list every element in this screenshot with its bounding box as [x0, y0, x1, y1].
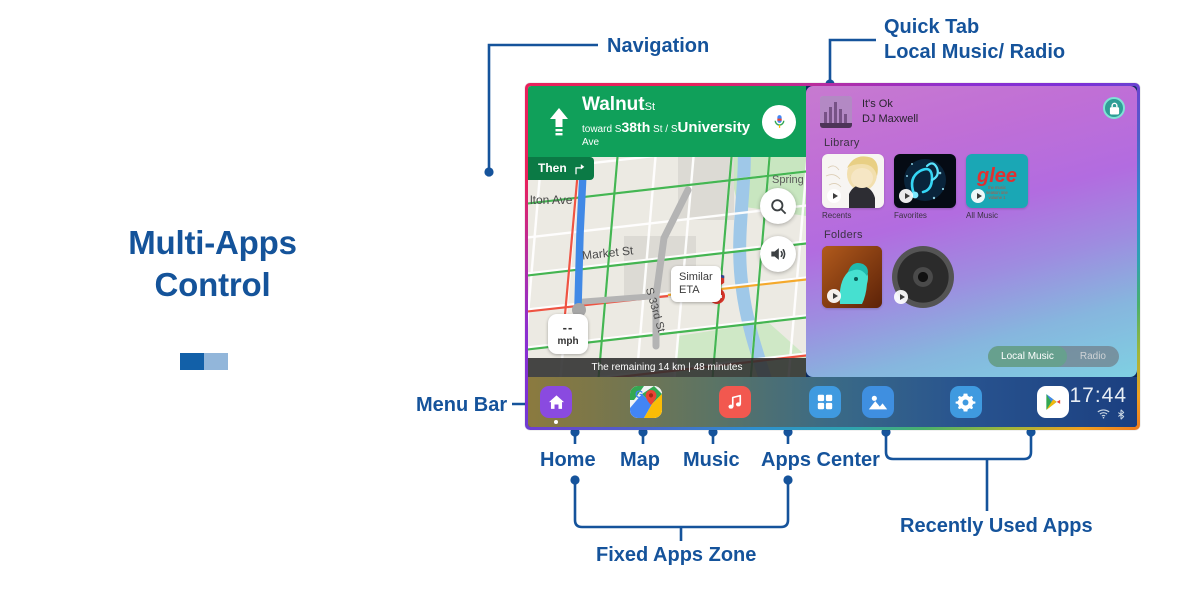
dock-app-music[interactable] [719, 386, 751, 418]
navigation-street: WalnutSt [582, 95, 762, 116]
status-tray [1069, 409, 1127, 420]
library-label: Library [824, 137, 1125, 149]
photo-gallery-icon [867, 391, 889, 413]
google-maps-icon: G [630, 386, 662, 418]
library-tiles: Recents [820, 154, 1125, 220]
map-label-ton-ave: lton Ave [530, 193, 572, 207]
car-head-unit-screen: Spring lton Ave Market St S 33rd St 76 [525, 83, 1140, 430]
annotation-map: Map [620, 448, 660, 473]
microphone-icon [771, 113, 788, 130]
library-tile-label: All Music [966, 211, 1028, 220]
now-playing-artwork [820, 96, 852, 128]
map-label-spring: Spring [772, 174, 804, 186]
folder-tile-vinyl[interactable] [892, 246, 954, 308]
now-playing-title: It's Ok [862, 97, 918, 112]
folder-tiles [820, 246, 1125, 308]
play-button-folder-portrait[interactable] [827, 289, 841, 303]
then-maneuver-chip: Then [528, 157, 594, 180]
search-icon [769, 197, 788, 216]
album-art-all-music: glee the music season one volume 1 [966, 154, 1028, 208]
album-art-recents [822, 154, 884, 208]
clock: 17:44 [1069, 385, 1127, 406]
map-search-button[interactable] [760, 188, 796, 224]
music-panel[interactable]: It's Ok DJ Maxwell Library [806, 86, 1137, 377]
lock-icon [1109, 102, 1120, 115]
then-label: Then [538, 161, 567, 175]
volume-on-icon [768, 244, 788, 264]
annotation-fixed-apps-zone: Fixed Apps Zone [596, 543, 756, 568]
navigation-street-name: Walnut [582, 94, 645, 115]
gear-icon [955, 392, 976, 413]
similar-eta-line-2: ETA [679, 284, 713, 297]
dock-app-play-store[interactable] [1037, 386, 1069, 418]
dock-app-settings[interactable] [950, 386, 982, 418]
wifi-icon [1097, 409, 1110, 419]
speedometer: -- mph [548, 314, 588, 354]
toward-ave: Ave [582, 137, 599, 148]
album-art-favorites [894, 154, 956, 208]
toward-prefix: toward [582, 124, 612, 135]
straight-arrow-icon [547, 107, 571, 137]
now-playing[interactable]: It's Ok DJ Maxwell [820, 96, 1125, 128]
tab-local-music[interactable]: Local Music [988, 346, 1067, 367]
toward-number: 38th [621, 119, 650, 135]
library-tile-label: Recents [822, 211, 884, 220]
music-note-icon [726, 393, 744, 411]
dock-app-gallery[interactable] [862, 386, 894, 418]
toward-university: University [678, 119, 751, 136]
annotation-quick-tab-line-1: Quick Tab [884, 15, 1065, 40]
google-play-icon [1043, 392, 1063, 412]
library-tile-all-music[interactable]: glee the music season one volume 1 All [966, 154, 1028, 220]
library-tile-recents[interactable]: Recents [822, 154, 884, 220]
grid-apps-icon [816, 393, 834, 411]
toward-s2: S [671, 124, 678, 135]
now-playing-artist: DJ Maxwell [862, 112, 918, 127]
turn-right-icon [572, 161, 585, 175]
speed-value: -- [563, 321, 574, 335]
toward-slash: / [665, 124, 668, 135]
play-button-folder-vinyl[interactable] [894, 290, 908, 304]
maneuver-arrow [544, 107, 574, 137]
annotation-recently-used-apps: Recently Used Apps [900, 514, 1093, 539]
library-tile-favorites[interactable]: Favorites [894, 154, 956, 220]
music-source-tabs[interactable]: Local Music Radio [988, 346, 1119, 367]
navigation-panel[interactable]: Spring lton Ave Market St S 33rd St 76 [528, 86, 806, 377]
tab-radio[interactable]: Radio [1067, 346, 1119, 367]
svg-text:glee: glee [976, 165, 1017, 187]
play-button-recents[interactable] [827, 189, 841, 203]
navigation-instruction: WalnutSt toward S38th St / SUniversity A… [574, 95, 762, 147]
folders-label: Folders [824, 229, 1125, 241]
dock-app-home[interactable] [540, 386, 572, 418]
navigation-toward: toward S38th St / SUniversity Ave [582, 120, 762, 148]
play-button-favorites[interactable] [899, 189, 913, 203]
home-icon [547, 393, 566, 412]
navigation-street-suffix: St [645, 101, 655, 113]
dock-app-apps-center[interactable] [809, 386, 841, 418]
active-app-indicator [554, 420, 558, 424]
menu-bar[interactable]: G [528, 377, 1137, 427]
svg-text:G: G [635, 389, 644, 401]
similar-eta-pill[interactable]: Similar ETA [671, 266, 721, 302]
annotation-quick-tab-line-2: Local Music/ Radio [884, 40, 1065, 65]
folder-tile-portrait[interactable] [822, 246, 882, 308]
status-area: 17:44 [1069, 385, 1131, 420]
annotation-apps-center: Apps Center [761, 448, 880, 473]
annotation-navigation: Navigation [607, 34, 709, 59]
play-button-all-music[interactable] [971, 189, 985, 203]
navigation-header: WalnutSt toward S38th St / SUniversity A… [528, 86, 806, 157]
bluetooth-icon [1117, 409, 1125, 420]
annotation-music: Music [683, 448, 740, 473]
library-tile-label: Favorites [894, 211, 956, 220]
annotation-quick-tab: Quick Tab Local Music/ Radio [884, 15, 1065, 65]
navigation-footer: The remaining 14 km | 48 minutes [528, 358, 806, 377]
lock-button[interactable] [1103, 97, 1125, 119]
voice-assistant-button[interactable] [762, 105, 796, 139]
dock-app-map[interactable]: G [630, 386, 662, 418]
similar-eta-line-1: Similar [679, 271, 713, 284]
annotation-home: Home [540, 448, 596, 473]
svg-text:volume 1: volume 1 [989, 195, 1007, 200]
map-volume-button[interactable] [760, 236, 796, 272]
toward-st: St [653, 124, 662, 135]
annotation-menu-bar: Menu Bar [416, 393, 507, 418]
speed-unit: mph [557, 336, 578, 347]
